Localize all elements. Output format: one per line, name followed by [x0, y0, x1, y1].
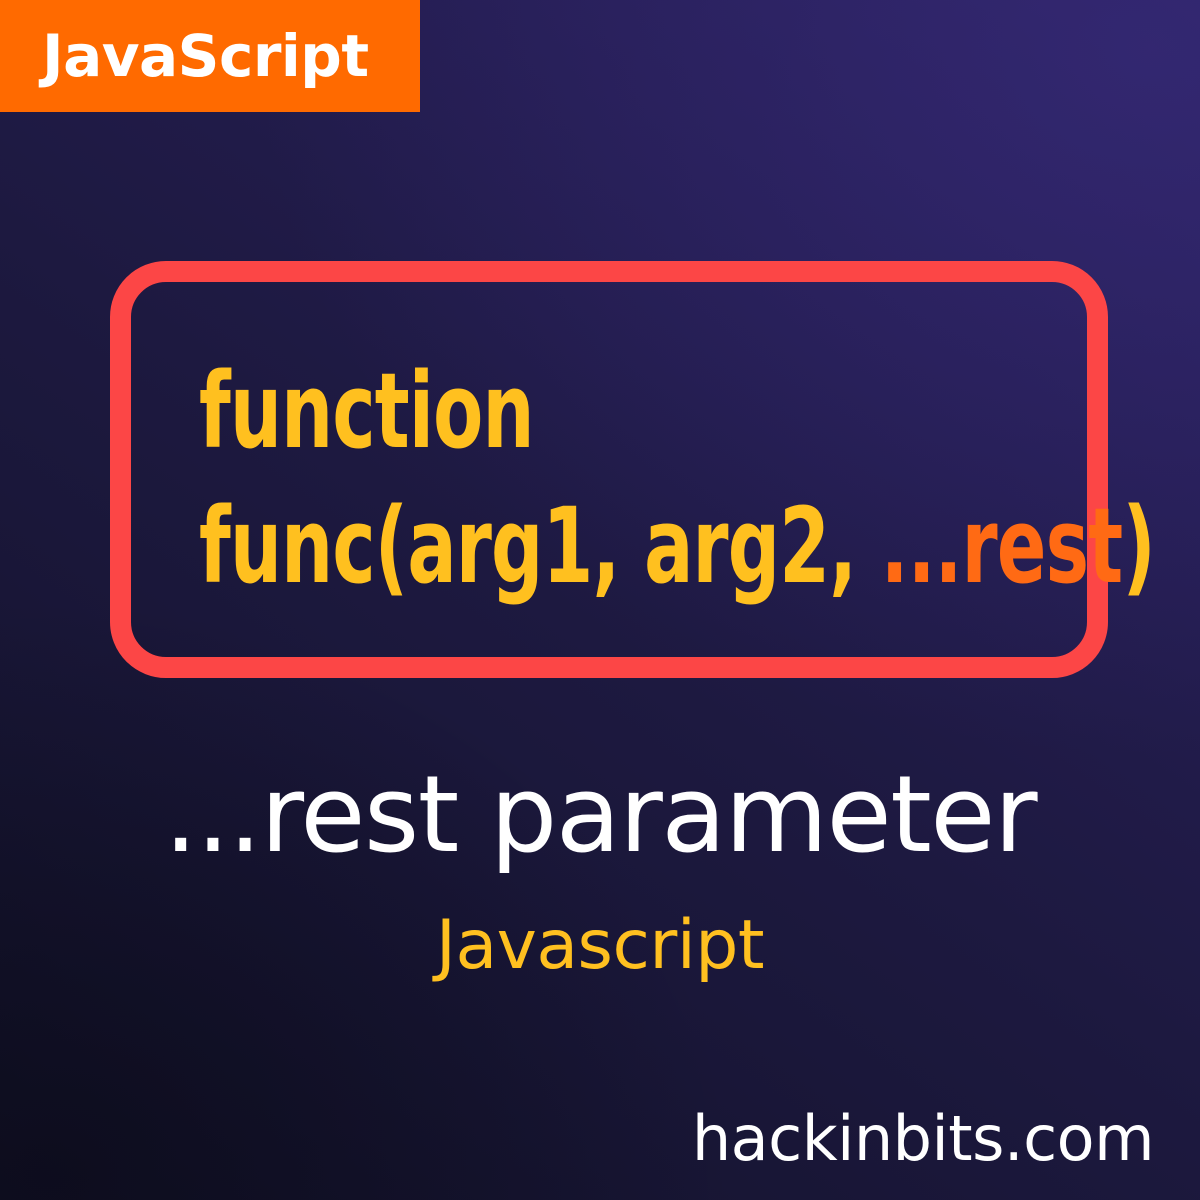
page-subtitle: Javascript	[0, 912, 1200, 980]
code-token-signature-prefix: func(arg1, arg2,	[199, 485, 881, 607]
language-badge: JavaScript	[0, 0, 420, 112]
code-snippet-lines: function func(arg1, arg2, ...rest)	[199, 344, 1059, 614]
code-token-rest-parameter: ...rest	[881, 485, 1123, 607]
code-token-signature-suffix: )	[1122, 485, 1155, 607]
code-line-2: func(arg1, arg2, ...rest)	[199, 479, 870, 614]
page-title: ...rest parameter	[0, 762, 1200, 868]
code-snippet-box: function func(arg1, arg2, ...rest)	[110, 261, 1108, 678]
language-badge-label: JavaScript	[42, 27, 369, 85]
code-line-1: function	[199, 344, 870, 479]
infographic-card: JavaScript function func(arg1, arg2, ...…	[0, 0, 1200, 1200]
code-token-function: function	[199, 350, 534, 472]
site-watermark: hackinbits.com	[692, 1108, 1154, 1170]
